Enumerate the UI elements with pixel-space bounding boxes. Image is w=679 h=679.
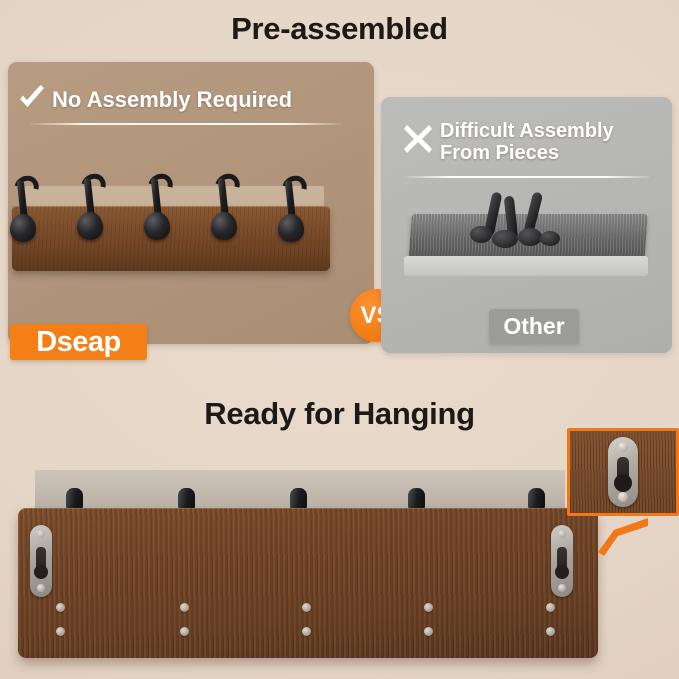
- right-panel-divider: [404, 176, 650, 178]
- right-panel-label: Difficult Assembly From Pieces: [440, 120, 614, 165]
- callout-keyhole-detail: [567, 428, 679, 516]
- left-panel-label: No Assembly Required: [52, 88, 292, 113]
- brand-badge-dseap: Dseap: [10, 324, 147, 360]
- product-infographic: Pre-assembled No Assembly Required Dseap…: [0, 0, 679, 679]
- other-badge: Other: [489, 309, 579, 344]
- right-panel-label-line2: From Pieces: [440, 142, 614, 164]
- check-icon: [17, 84, 47, 114]
- left-panel-divider: [30, 123, 342, 125]
- page-title-top: Pre-assembled: [0, 11, 679, 47]
- product-image-assembled-rack: [2, 168, 342, 293]
- page-title-bottom: Ready for Hanging: [0, 396, 679, 432]
- right-panel-label-line1: Difficult Assembly: [440, 120, 614, 142]
- x-icon: [403, 124, 433, 154]
- product-image-unassembled-pieces: [396, 186, 658, 294]
- keyhole-bracket-left: [30, 525, 52, 597]
- product-image-rack-back-view: [0, 470, 620, 679]
